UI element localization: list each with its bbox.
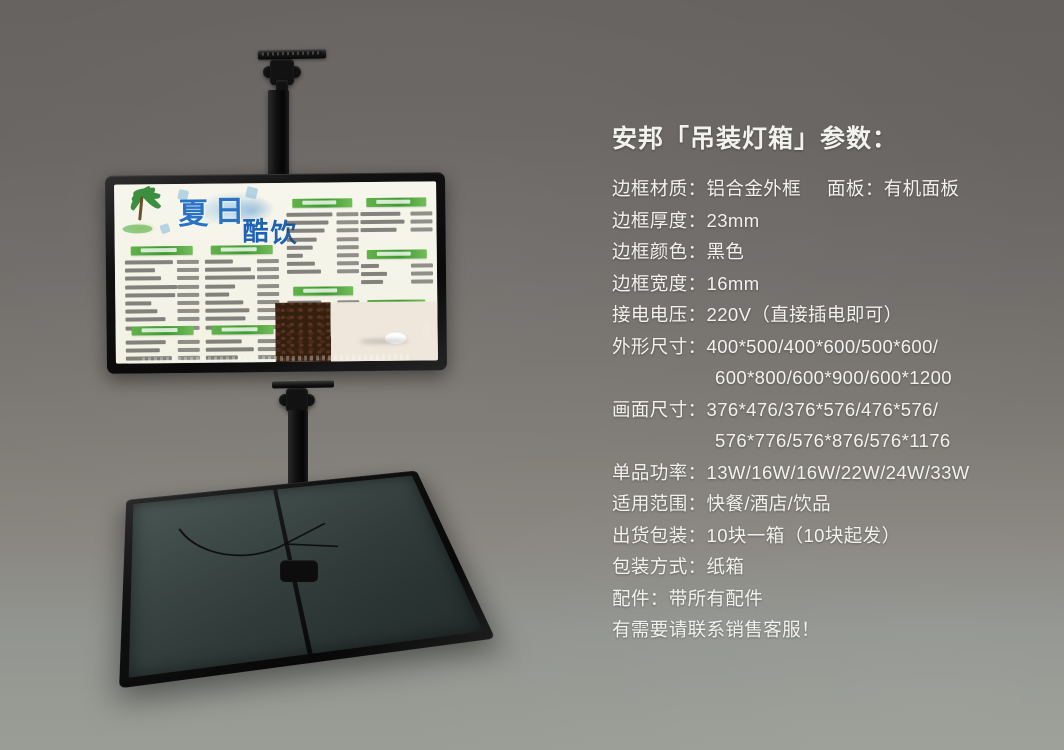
spec-value-frame-width: 16mm xyxy=(707,273,760,294)
spec-line-outer-size: 外形尺寸：400*500/400*600/500*600/ xyxy=(612,331,1056,363)
spec-label-frame-material: 边框材质： xyxy=(612,178,707,199)
spec-label-frame-thickness: 边框厚度： xyxy=(612,210,707,231)
spec-label-power: 单品功率： xyxy=(612,462,707,483)
menu-rows-5 xyxy=(286,212,359,278)
menu-section-header-8 xyxy=(293,286,353,296)
menu-poster: 夏 日 酷 饮 xyxy=(114,181,438,363)
spec-line-frame-color: 边框颜色：黑色 xyxy=(612,236,1056,268)
spec-panel: 安邦「吊装灯箱」参数： 边框材质：铝合金外框面板：有机面板 边框厚度：23mm … xyxy=(612,124,1056,646)
spec-line-power: 单品功率：13W/16W/16W/22W/24W/33W xyxy=(612,457,1056,489)
spec-value-voltage: 220V（直接插电即可） xyxy=(707,304,903,325)
drop-pole-top xyxy=(268,90,289,186)
product-image-canvas: 夏 日 酷 饮 xyxy=(0,0,1064,750)
ice-cube-1 xyxy=(177,189,189,201)
spec-value-outer-size: 400*500/400*600/500*600/ xyxy=(707,336,939,357)
poster-title-char-4: 饮 xyxy=(270,219,296,249)
menu-section-header-3 xyxy=(132,326,194,336)
spec-line-frame-material: 边框材质：铝合金外框面板：有机面板 xyxy=(612,173,1056,205)
spec-label-accessories: 配件： xyxy=(612,588,669,609)
spec-value-application: 快餐/酒店/饮品 xyxy=(707,493,831,514)
spec-line-frame-thickness: 边框厚度：23mm xyxy=(612,205,1056,237)
spec-label-frame-width: 边框宽度： xyxy=(612,273,707,294)
water-splash-graphic xyxy=(174,181,287,237)
palm-tree-illustration xyxy=(116,188,172,233)
ice-cube-2 xyxy=(159,223,170,234)
panel-mount-clamp xyxy=(280,560,318,582)
spec-line-frame-width: 边框宽度：16mm xyxy=(612,268,1056,300)
poster-title-char-1: 夏 xyxy=(178,200,208,230)
menu-rows-6 xyxy=(360,211,432,236)
coffee-photo xyxy=(275,301,438,362)
spec-line-packing-method: 包装方式：纸箱 xyxy=(612,551,1056,583)
menu-section-header-5 xyxy=(292,198,352,208)
spec-value-shipping-pack: 10块一箱（10块起发） xyxy=(707,525,901,546)
menu-rows-1 xyxy=(125,260,200,334)
menu-section-header-4 xyxy=(212,325,274,335)
poster-title-char-3: 酷 xyxy=(242,217,268,247)
spec-line-voltage: 接电电压：220V（直接插电即可） xyxy=(612,299,1056,331)
menu-rows-3 xyxy=(126,340,200,364)
poster-title: 夏 日 酷 饮 xyxy=(158,192,339,250)
beach-grass xyxy=(122,224,152,233)
spec-line-shipping-pack: 出货包装：10块一箱（10块起发） xyxy=(612,520,1056,552)
menu-section-header-1 xyxy=(131,246,193,256)
lightbox-face-upper: 夏 日 酷 饮 xyxy=(114,181,438,363)
lightbox-panel-lit: 夏 日 酷 饮 xyxy=(105,172,447,374)
poster-title-char-2: 日 xyxy=(214,197,244,227)
beach-illustration xyxy=(118,220,162,236)
spec-line-application: 适用范围：快餐/酒店/饮品 xyxy=(612,488,1056,520)
menu-rows-2 xyxy=(205,259,280,333)
spec-title: 安邦「吊装灯箱」参数： xyxy=(612,124,1056,154)
spec-value-power: 13W/16W/16W/22W/24W/33W xyxy=(707,462,970,483)
menu-rows-9 xyxy=(361,313,433,322)
spec-value-frame-thickness: 23mm xyxy=(707,210,760,231)
spec-line-graphic-size: 画面尺寸：376*476/376*576/476*576/ xyxy=(612,394,1056,426)
spec-label-application: 适用范围： xyxy=(612,493,707,514)
spec-label-face-panel: 面板： xyxy=(827,178,884,199)
poster-footer-text xyxy=(142,355,413,363)
spec-value-frame-color: 黑色 xyxy=(707,241,745,262)
spec-value-packing-method: 纸箱 xyxy=(707,556,745,577)
spec-line-contact-note: 有需要请联系销售客服！ xyxy=(612,614,1056,646)
coffee-beans-image xyxy=(275,302,331,362)
spec-line-outer-size-cont: 600*800/600*900/600*1200 xyxy=(612,362,1056,394)
ice-cube-3 xyxy=(245,186,258,199)
swivel-joint-top-neck xyxy=(276,80,288,94)
ceiling-mount-plate-top xyxy=(258,49,326,59)
spec-line-graphic-size-cont: 576*776/576*876/576*1176 xyxy=(612,425,1056,457)
spec-label-outer-size: 外形尺寸： xyxy=(612,336,707,357)
spec-line-accessories: 配件：带所有配件 xyxy=(612,583,1056,615)
spec-label-packing-method: 包装方式： xyxy=(612,556,707,577)
spec-label-shipping-pack: 出货包装： xyxy=(612,525,707,546)
spec-value-accessories: 带所有配件 xyxy=(669,588,764,609)
lightbox-bezel-upper xyxy=(105,172,447,374)
menu-rows-8 xyxy=(287,300,359,342)
spec-value-frame-material: 铝合金外框 xyxy=(707,178,802,199)
menu-section-header-2 xyxy=(211,245,273,255)
spec-label-frame-color: 边框颜色： xyxy=(612,241,707,262)
menu-rows-4 xyxy=(206,339,280,364)
menu-section-header-9 xyxy=(367,299,425,309)
spec-value-face-panel: 有机面板 xyxy=(884,178,960,199)
menu-section-header-7 xyxy=(367,249,427,259)
swivel-joint-top-arm xyxy=(263,66,301,78)
menu-rows-7 xyxy=(361,263,433,288)
swivel-joint-bottom xyxy=(286,388,308,412)
spec-value-graphic-size: 376*476/376*576/476*576/ xyxy=(707,399,939,420)
spec-label-graphic-size: 画面尺寸： xyxy=(612,399,707,420)
menu-section-header-6 xyxy=(366,197,426,207)
spec-label-voltage: 接电电压： xyxy=(612,304,707,325)
coffee-cup-shadow xyxy=(360,338,409,344)
swivel-joint-top xyxy=(270,59,294,85)
